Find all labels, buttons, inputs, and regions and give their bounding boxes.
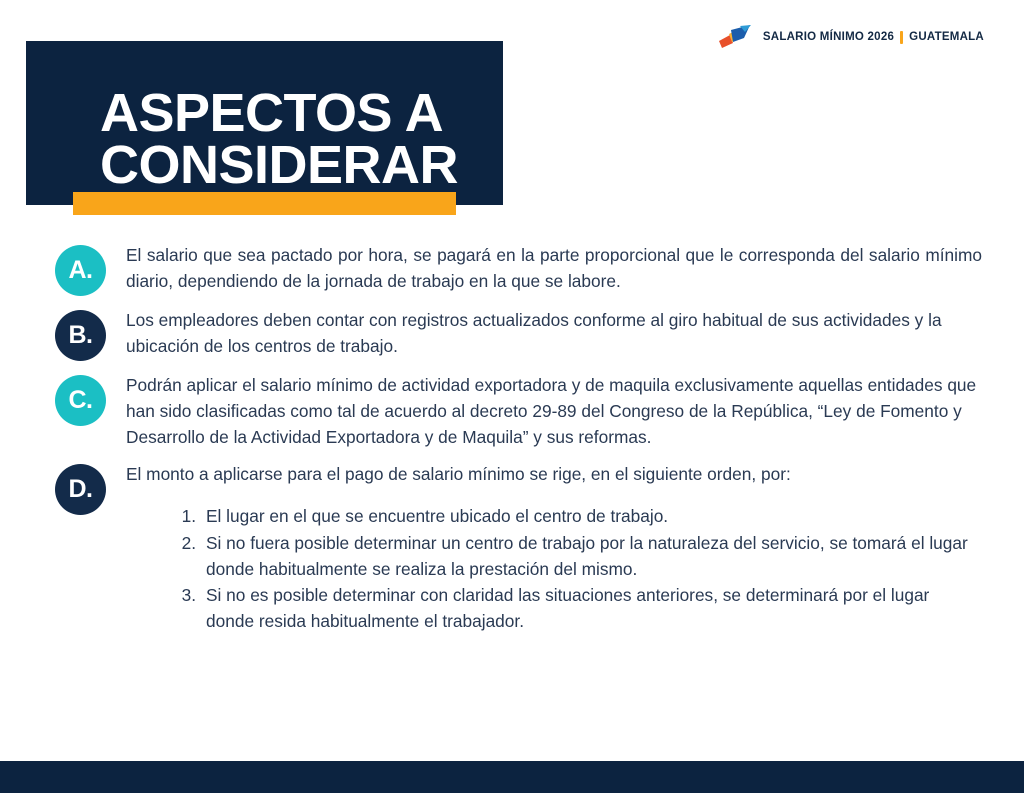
sublist-item: Si no es posible determinar con claridad…: [174, 583, 982, 635]
title-block: ASPECTOS A CONSIDERAR: [26, 41, 503, 205]
item-text-a: El salario que sea pactado por hora, se …: [126, 243, 982, 295]
page-title: ASPECTOS A CONSIDERAR: [100, 87, 500, 192]
brand-separator-icon: [900, 31, 903, 44]
sublist-item: Si no fuera posible determinar un centro…: [174, 531, 982, 583]
item-badge-b: B.: [55, 310, 106, 361]
list-item: C. Podrán aplicar el salario mínimo de a…: [0, 373, 1024, 450]
item-body-d: El monto a aplicarse para el pago de sal…: [106, 462, 982, 636]
list-item: B. Los empleadores deben contar con regi…: [0, 308, 1024, 361]
item-text-d: El monto a aplicarse para el pago de sal…: [126, 462, 982, 488]
item-badge-c: C.: [55, 375, 106, 426]
sublist-item: El lugar en el que se encuentre ubicado …: [174, 504, 982, 530]
item-d-sublist: El lugar en el que se encuentre ubicado …: [126, 504, 982, 635]
bird-swoosh-logo-icon: [717, 24, 755, 50]
item-body-b: Los empleadores deben contar con registr…: [106, 308, 982, 360]
footer-bar: [0, 761, 1024, 793]
item-badge-d: D.: [55, 464, 106, 515]
brand-lockup: SALARIO MÍNIMO 2026 GUATEMALA: [717, 24, 984, 50]
title-accent-bar: [73, 192, 456, 215]
item-body-a: El salario que sea pactado por hora, se …: [106, 243, 982, 295]
brand-name: SALARIO MÍNIMO 2026: [763, 31, 894, 43]
brand-text: SALARIO MÍNIMO 2026 GUATEMALA: [763, 31, 984, 44]
item-badge-a: A.: [55, 245, 106, 296]
content-list: A. El salario que sea pactado por hora, …: [0, 243, 1024, 648]
list-item: D. El monto a aplicarse para el pago de …: [0, 462, 1024, 636]
item-text-c: Podrán aplicar el salario mínimo de acti…: [126, 373, 982, 450]
brand-country: GUATEMALA: [909, 31, 984, 43]
list-item: A. El salario que sea pactado por hora, …: [0, 243, 1024, 296]
item-text-b: Los empleadores deben contar con registr…: [126, 308, 982, 360]
item-body-c: Podrán aplicar el salario mínimo de acti…: [106, 373, 982, 450]
